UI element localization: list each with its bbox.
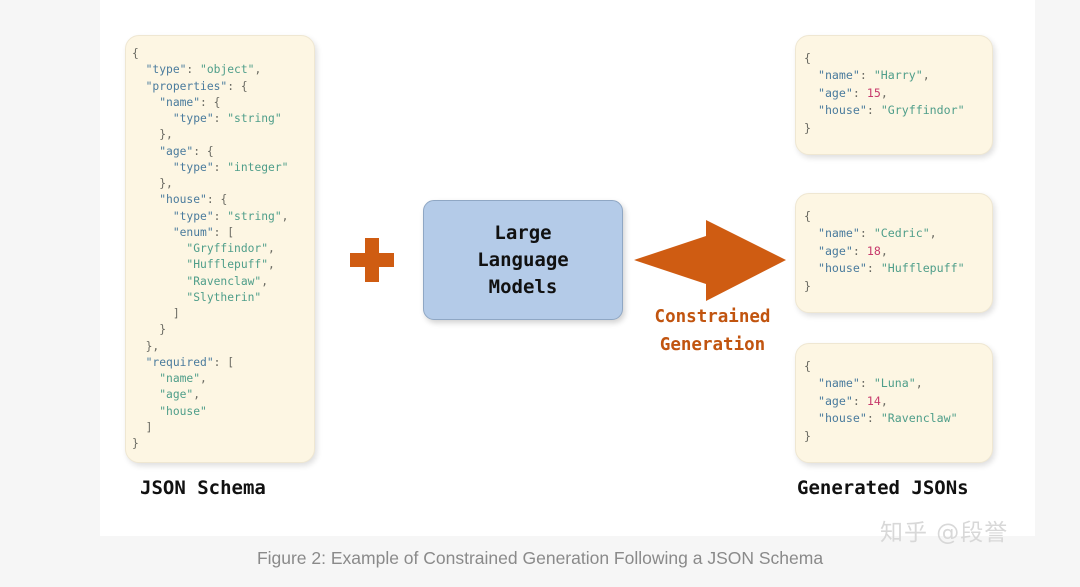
generated-json-code: { "name": "Luna", "age": 14, "house": "R… <box>796 344 992 445</box>
generated-json-code: { "name": "Cedric", "age": 18, "house": … <box>796 194 992 295</box>
json-schema-caption: JSON Schema <box>140 477 266 499</box>
generated-jsons-caption: Generated JSONs <box>797 477 969 499</box>
generated-json-card: { "name": "Cedric", "age": 18, "house": … <box>795 193 993 313</box>
generated-json-card: { "name": "Luna", "age": 14, "house": "R… <box>795 343 993 463</box>
plus-icon <box>350 238 394 282</box>
figure-panel: { "type": "object", "properties": { "nam… <box>100 0 1035 536</box>
zhihu-watermark: 知乎 @段誉 <box>880 513 1008 547</box>
constrained-generation-label: Constrained Generation <box>615 303 810 359</box>
large-language-models-label: Large Language Models <box>477 220 569 301</box>
json-schema-code: { "type": "object", "properties": { "nam… <box>126 36 314 452</box>
right-arrow-icon <box>634 218 789 303</box>
json-schema-card: { "type": "object", "properties": { "nam… <box>125 35 315 463</box>
generated-json-code: { "name": "Harry", "age": 15, "house": "… <box>796 36 992 137</box>
large-language-models-box: Large Language Models <box>423 200 623 320</box>
generated-json-card: { "name": "Harry", "age": 15, "house": "… <box>795 35 993 155</box>
figure-caption: Figure 2: Example of Constrained Generat… <box>0 548 1080 569</box>
